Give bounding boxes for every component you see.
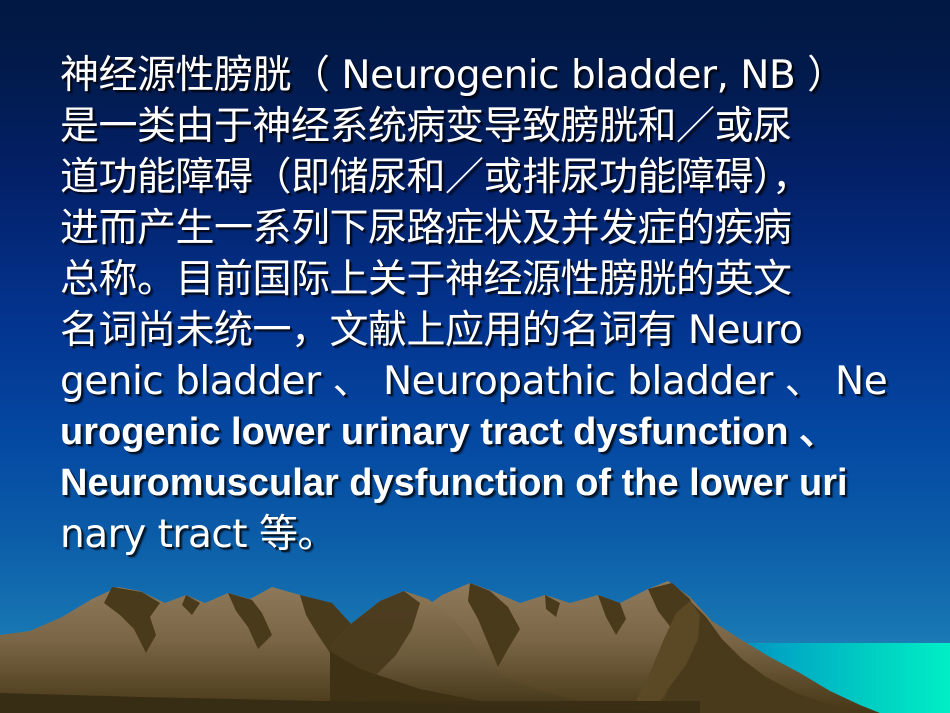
slide-canvas: 神经源性膀胱（ Neurogenic bladder, NB ） 是一类由于神经…	[0, 0, 950, 713]
text-line-8: urogenic lower urinary tract dysfunction…	[60, 407, 898, 458]
foreground-base	[0, 693, 700, 713]
mountain-landscape-graphic	[0, 573, 950, 713]
text-line-5: 总称。目前国际上关于神经源性膀胱的英文	[60, 254, 898, 305]
text-line-6: 名词尚未统一，文献上应用的名词有 Neuro	[60, 305, 898, 356]
text-line-9: Neuromuscular dysfunction of the lower u…	[60, 458, 898, 509]
text-line-3: 道功能障碍（即储尿和／或排尿功能障碍），	[60, 152, 898, 203]
slide-body-text: 神经源性膀胱（ Neurogenic bladder, NB ） 是一类由于神经…	[60, 50, 898, 560]
headland-right	[630, 601, 860, 713]
text-line-1: 神经源性膀胱（ Neurogenic bladder, NB ）	[60, 50, 898, 101]
text-line-10: nary tract 等。	[60, 509, 898, 560]
mountain-shadow-facets	[104, 583, 700, 667]
mountain-ridge-front	[330, 591, 660, 713]
text-line-7: genic bladder 、 Neuropathic bladder 、 Ne	[60, 356, 898, 407]
water-surface	[690, 643, 950, 713]
text-line-4: 进而产生一系列下尿路症状及并发症的疾病	[60, 203, 898, 254]
mountain-ridge-back	[0, 581, 880, 713]
text-line-2: 是一类由于神经系统病变导致膀胱和／或尿	[60, 101, 898, 152]
